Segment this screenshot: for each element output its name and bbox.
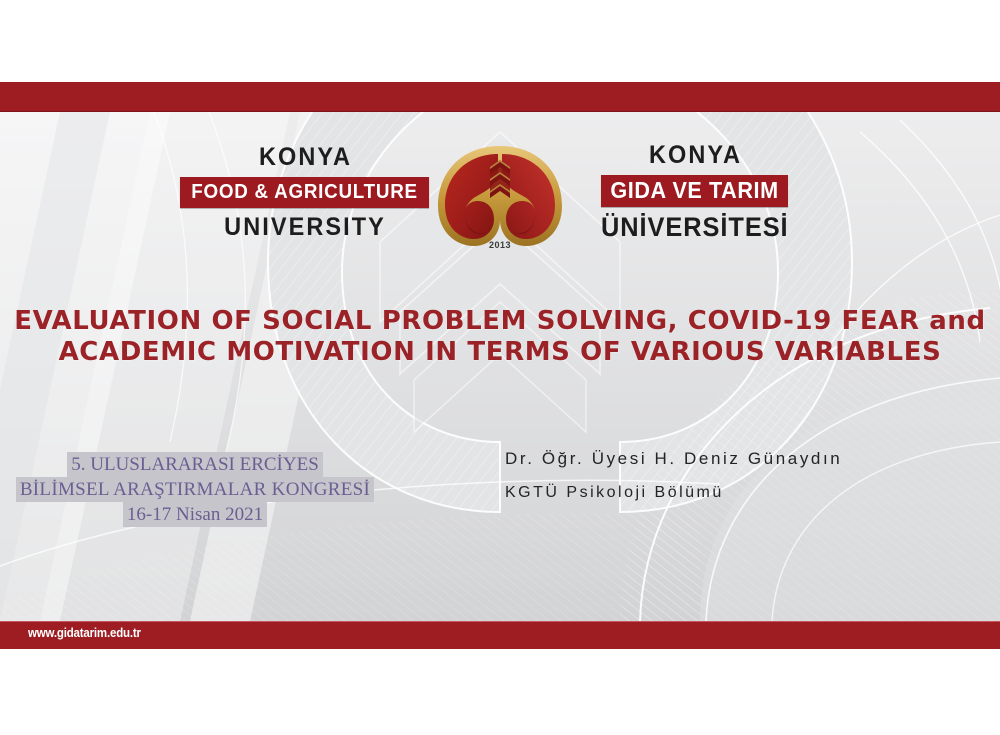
logo-turkish-badge: GIDA VE TARIM: [601, 175, 788, 207]
author-department: KGTÜ Psikoloji Bölümü: [505, 476, 975, 510]
top-accent-bar: [0, 82, 1000, 112]
logo-founding-year: 2013: [489, 240, 511, 250]
university-logo-lockup: KONYA FOOD & AGRICULTURE UNIVERSITY: [0, 128, 1000, 256]
logo-turkish-bottom-word: ÜNİVERSİTESİ: [601, 214, 789, 241]
congress-name-line-1: 5. ULUSLARARASI ERCİYES: [67, 452, 323, 477]
title-line-1: EVALUATION OF SOCIAL PROBLEM SOLVING, CO…: [0, 306, 1000, 337]
logo-english-bottom-word: UNIVERSITY: [224, 215, 386, 240]
congress-info: 5. ULUSLARARASI ERCİYES BİLİMSEL ARAŞTIR…: [0, 452, 390, 527]
presentation-title: EVALUATION OF SOCIAL PROBLEM SOLVING, CO…: [0, 306, 1000, 368]
title-line-2: ACADEMIC MOTIVATION IN TERMS OF VARIOUS …: [0, 337, 1000, 368]
presentation-slide: KONYA FOOD & AGRICULTURE UNIVERSITY: [0, 0, 1000, 735]
congress-name-line-2: BİLİMSEL ARAŞTIRMALAR KONGRESİ: [16, 477, 374, 502]
logo-english-top-word: KONYA: [258, 145, 351, 170]
konya-crescent-wheat-logo-icon: 2013: [425, 134, 575, 250]
congress-dates: 16-17 Nisan 2021: [123, 502, 267, 527]
logo-turkish-top-word: KONYA: [648, 143, 741, 168]
footer-website-url[interactable]: www.gidatarim.edu.tr: [28, 626, 141, 640]
author-name: Dr. Öğr. Üyesi H. Deniz Günaydın: [505, 442, 975, 476]
logo-english-badge: FOOD & AGRICULTURE: [180, 177, 429, 208]
author-info: Dr. Öğr. Üyesi H. Deniz Günaydın KGTÜ Ps…: [505, 442, 975, 510]
logo-turkish-block: KONYA GIDA VE TARIM ÜNİVERSİTESİ: [575, 143, 815, 241]
footer-accent-bar: [0, 621, 1000, 649]
logo-english-block: KONYA FOOD & AGRICULTURE UNIVERSITY: [185, 145, 425, 240]
